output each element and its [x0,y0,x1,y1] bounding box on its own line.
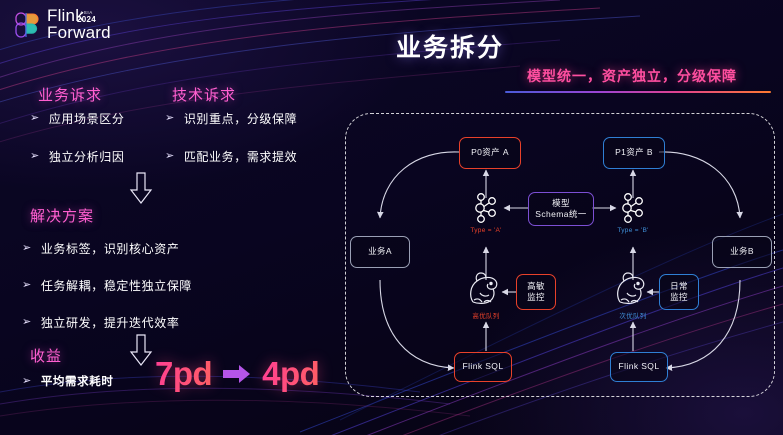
bullet-marker-icon: ➢ [30,151,40,162]
node-p0-asset-a[interactable]: P0资产 A [459,137,521,169]
metric-comparison: 7pd 4pd [155,355,319,393]
page-subtitle: 模型统一，资产独立，分级保障 [487,66,777,86]
list-item: ➢ 任务解耦，稳定性独立保障 [22,277,192,294]
node-label-line-1: 模型 [552,198,570,209]
logo-line-2: Forward [47,25,111,42]
node-label-line-1: 日常 [670,281,688,292]
down-arrow-icon [128,334,154,367]
node-label-line-1: 高敏 [527,281,545,292]
list-item-label: 应用场景区分 [49,110,125,127]
section-heading-benefit: 收益 [30,345,62,366]
metric-before-value: 7pd [155,355,212,393]
caption-type-b: Type = 'B' [598,227,668,234]
architecture-diagram: P0资产 A P1资产 B 模型 Schema统一 业务A 业务B 高敏 监控 … [345,113,775,397]
diagram-connectors [346,114,774,396]
list-item: ➢ 识别重点，分级保障 [165,110,297,127]
list-item: ➢ 独立研发，提升迭代效率 [22,314,179,331]
node-business-a[interactable]: 业务A [350,236,410,268]
node-label: Flink SQL [463,361,504,372]
node-label: P1资产 B [615,147,653,158]
section-heading-technical-demand: 技术诉求 [172,84,236,105]
list-item-label: 匹配业务，需求提效 [184,148,297,165]
node-p1-asset-b[interactable]: P1资产 B [603,137,665,169]
node-label: Flink SQL [619,361,660,372]
node-high-sensitivity-monitor[interactable]: 高敏 监控 [516,274,556,310]
section-heading-solution: 解决方案 [30,205,94,226]
node-schema-unify[interactable]: 模型 Schema统一 [528,192,594,226]
data-cluster-icon [470,192,502,229]
flink-squirrel-logo-icon [14,10,40,40]
caption-secondary-queue: 次优队列 [601,310,665,320]
slide-canvas: Flink Forward ASIA 2024 业务拆分 模型统一，资产独立，分… [0,0,783,435]
node-label-line-2: Schema统一 [535,209,586,220]
metric-after-value: 4pd [262,355,319,393]
node-daily-monitor[interactable]: 日常 监控 [659,274,699,310]
list-item-label: 业务标签，识别核心资产 [41,240,180,257]
bullet-marker-icon: ➢ [22,280,32,291]
list-item-label: 独立分析归因 [49,148,125,165]
bullet-marker-icon: ➢ [22,317,32,328]
right-arrow-icon [222,364,252,384]
list-item: ➢ 独立分析归因 [30,148,124,165]
node-business-b[interactable]: 业务B [712,236,772,268]
logo-event-badge: ASIA 2024 [77,10,96,24]
data-cluster-icon [617,192,649,229]
logo-badge-region: ASIA [77,10,96,15]
node-label-line-2: 监控 [527,292,545,303]
bullet-marker-icon: ➢ [22,376,32,387]
list-item-label: 独立研发，提升迭代效率 [41,314,180,331]
flink-squirrel-icon [611,271,651,312]
list-item: ➢ 业务标签，识别核心资产 [22,240,179,257]
page-title: 业务拆分 [335,28,565,64]
list-item: ➢ 应用场景区分 [30,110,124,127]
bullet-marker-icon: ➢ [22,243,32,254]
down-arrow-icon [128,172,154,205]
list-item-label: 平均需求耗时 [41,373,114,389]
list-item-label: 识别重点，分级保障 [184,110,297,127]
section-heading-business-demand: 业务诉求 [38,84,102,105]
node-flink-sql-left[interactable]: Flink SQL [454,352,512,382]
bullet-marker-icon: ➢ [165,151,175,162]
node-label: P0资产 A [471,147,509,158]
logo-badge-year: 2024 [77,15,96,24]
brand-logo: Flink Forward ASIA 2024 [14,8,111,41]
node-label-line-2: 监控 [670,292,688,303]
node-label: 业务B [730,246,754,257]
flink-squirrel-icon [464,271,504,312]
list-item: ➢ 平均需求耗时 [22,373,113,389]
bullet-marker-icon: ➢ [30,113,40,124]
bullet-marker-icon: ➢ [165,113,175,124]
list-item-label: 任务解耦，稳定性独立保障 [41,277,192,294]
node-label: 业务A [368,246,392,257]
node-flink-sql-right[interactable]: Flink SQL [610,352,668,382]
list-item: ➢ 匹配业务，需求提效 [165,148,297,165]
subtitle-underline [505,91,771,93]
caption-priority-queue: 高优队列 [454,310,518,320]
caption-type-a: Type = 'A' [451,227,521,234]
